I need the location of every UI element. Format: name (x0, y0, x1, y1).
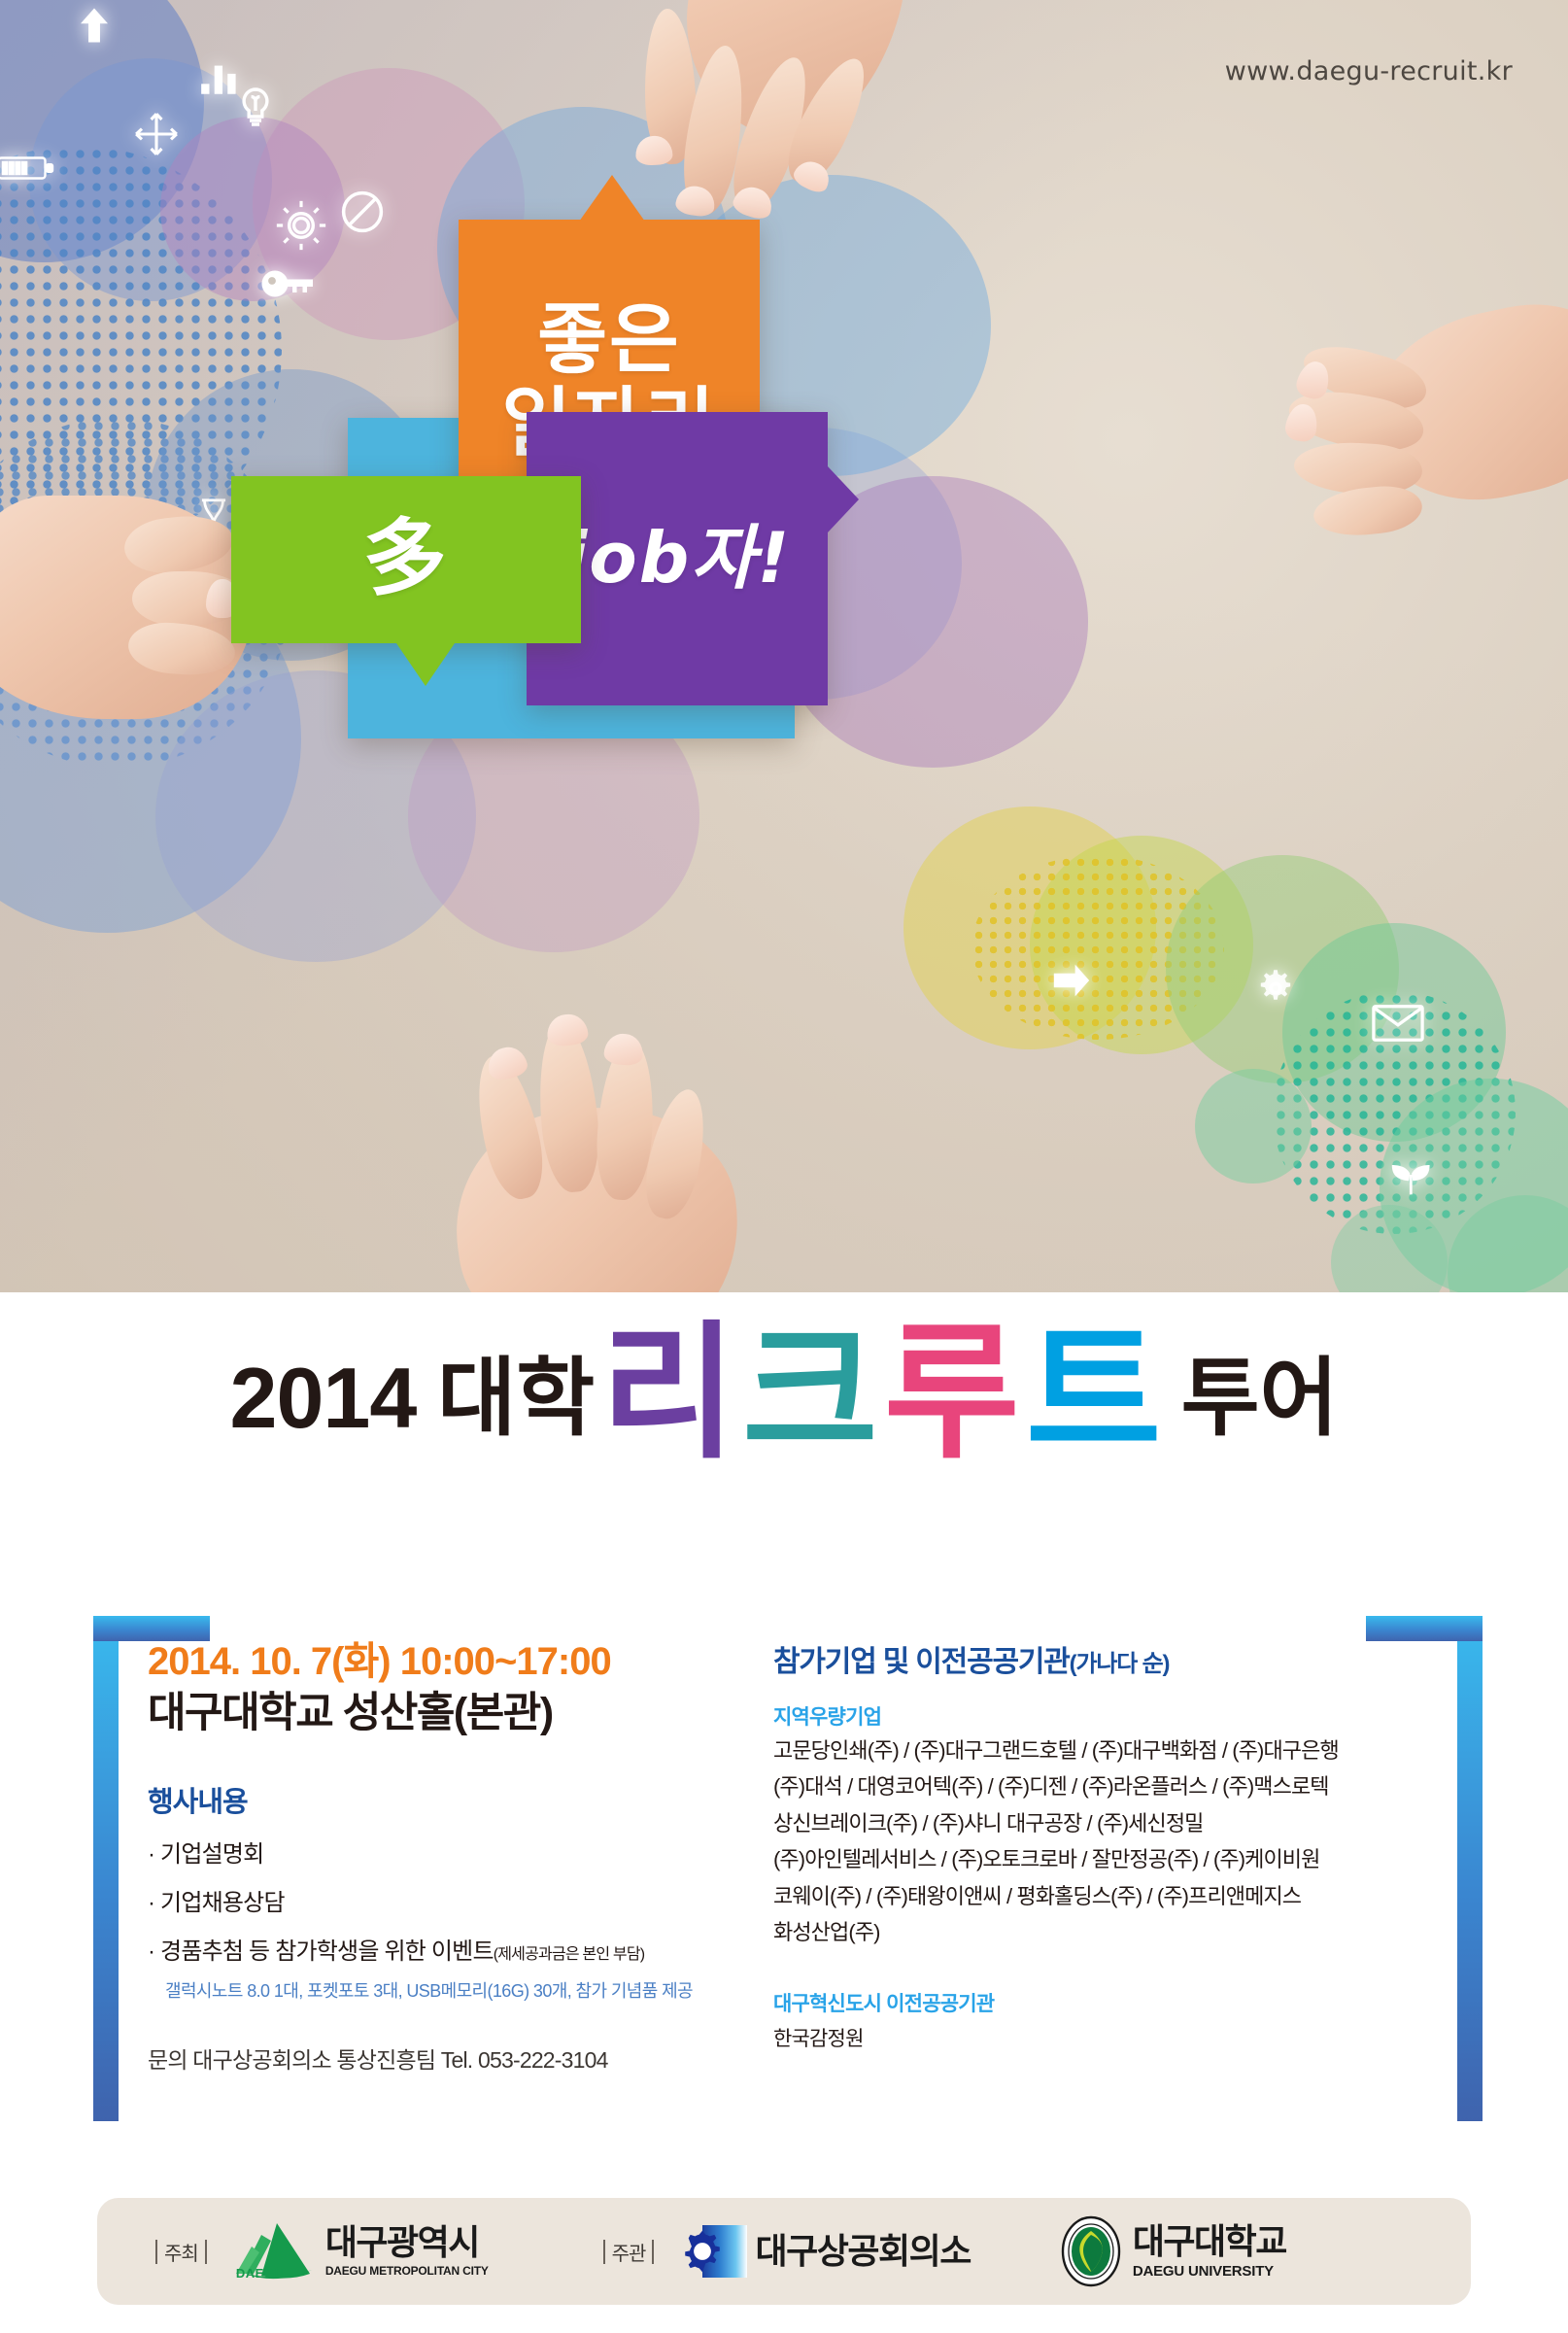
program-bullet: · 기업설명회 (148, 1835, 750, 1869)
hero-image: 우수인력 좋은 일자리 job자! 多 www.daegu-recruit.kr (0, 0, 1568, 1292)
participants-heading-main: 참가기업 및 이전공공기관 (773, 1646, 1070, 1678)
title-syllable-2: 크 (742, 1333, 872, 1455)
hand-bottom-center (418, 1001, 835, 1292)
sponsor-footer: 주최 DAEGU 대구광역시 DAEGU METROPOLITAN CITY (97, 2198, 1471, 2305)
hand-right (1253, 311, 1568, 632)
organizer-group: 주관 대구상공회의소 (603, 2221, 971, 2282)
no-entry-icon (335, 185, 390, 239)
title-syllable-1: 리 (600, 1333, 731, 1455)
host-label: 주최 (155, 2238, 207, 2266)
gear-small-icon (1251, 964, 1300, 1012)
daegu-university-name-kr: 대구대학교 (1133, 2224, 1286, 2259)
dcci-gear-mark (677, 2221, 747, 2282)
bubble-green-tail (396, 643, 455, 686)
bubble-orange-tail (579, 175, 645, 222)
bubble-green: 多 (231, 476, 581, 643)
daegu-city-logo: DAEGU 대구광역시 DAEGU METROPOLITAN CITY (232, 2221, 489, 2282)
title-syllable-3: 루 (884, 1333, 1014, 1455)
bubble-green-text: 多 (363, 517, 449, 602)
organizer-label: 주관 (603, 2238, 655, 2266)
website-url[interactable]: www.daegu-recruit.kr (1225, 56, 1513, 86)
daegu-university-name-en: DAEGU UNIVERSITY (1133, 2263, 1286, 2280)
info-panel: 2014. 10. 7(화) 10:00~17:00 대구대학교 성산홀(본관)… (93, 1616, 1483, 2121)
bubble-purple-tail (828, 466, 859, 532)
daegu-mountain-mark: DAEGU (232, 2221, 316, 2282)
bubble-purple-text: job자! (563, 523, 792, 594)
lightbulb-icon (229, 81, 282, 133)
program-bullet-main: · 경품추첨 등 참가학생을 위한 이벤트 (148, 1938, 494, 1965)
daegu-city-name-en: DAEGU METROPOLITAN CITY (325, 2264, 489, 2278)
company-line: (주)대석 / 대영코어텍(주) / (주)디젠 / (주)라온플러스 / (주… (773, 1770, 1395, 1802)
daegu-city-name-kr: 대구광역시 (325, 2225, 489, 2260)
company-line: 고문당인쇄(주) / (주)대구그랜드호텔 / (주)대구백화점 / (주)대구… (773, 1734, 1395, 1767)
institution-line: 한국감정원 (773, 2023, 1395, 2052)
dcci-name-kr: 대구상공회의소 (755, 2234, 970, 2269)
deco-bubble (1195, 1069, 1312, 1184)
program-bullet-note: (제세공과금은 본인 부담) (494, 1946, 645, 1963)
daegu-university-logo: 대구대학교 DAEGU UNIVERSITY (1060, 2215, 1286, 2287)
arrow-up-icon (72, 3, 117, 48)
daegu-mark-text: DAEGU (236, 2266, 284, 2281)
title-univ: 대학 (437, 1355, 595, 1441)
company-line: 화성산업(주) (773, 1916, 1395, 1948)
company-line: 상신브레이크(주) / (주)샤니 대구공장 / (주)세신정밀 (773, 1807, 1395, 1839)
participants-heading: 참가기업 및 이전공공기관(가나다 순) (773, 1637, 1395, 1680)
title-tour: 투어 (1181, 1355, 1339, 1441)
key-icon (257, 260, 322, 307)
title-syllable-4: 트 (1026, 1333, 1156, 1455)
event-venue: 대구대학교 성산홀(본관) (148, 1688, 750, 1740)
bubble-orange-line1: 좋은 (537, 302, 681, 380)
contact-info: 문의 대구상공회의소 통상진흥팀 Tel. 053-222-3104 (148, 2041, 750, 2075)
event-datetime: 2014. 10. 7(화) 10:00~17:00 (148, 1637, 750, 1686)
program-bullet: · 기업채용상담 (148, 1883, 750, 1917)
participants-heading-note: (가나다 순) (1070, 1651, 1170, 1677)
daegu-university-emblem (1060, 2215, 1122, 2287)
gift-list: 갤럭시노트 8.0 1대, 포켓포토 3대, USB메모리(16G) 30개, … (165, 1977, 750, 2003)
move-arrows-icon (129, 107, 184, 161)
participants-column: 참가기업 및 이전공공기관(가나다 순) 지역우량기업 고문당인쇄(주) / (… (773, 1637, 1395, 2052)
category-public-institutions: 대구혁신도시 이전공공기관 (773, 1988, 1395, 2017)
host-group: 주최 DAEGU 대구광역시 DAEGU METROPOLITAN CITY (155, 2221, 489, 2282)
leaf-icon (1383, 1149, 1438, 1201)
program-heading: 행사내용 (148, 1779, 750, 1820)
company-line: (주)아인텔레서비스 / (주)오토크로바 / 잘만정공(주) / (주)케이비… (773, 1843, 1395, 1875)
title-year: 2014 (230, 1355, 417, 1441)
company-line: 코웨이(주) / (주)태왕이앤씨 / 평화홀딩스(주) / (주)프리앤메지스 (773, 1880, 1395, 1912)
category-local-companies: 지역우량기업 (773, 1701, 1395, 1731)
envelope-icon (1368, 1001, 1428, 1046)
battery-icon (0, 146, 58, 190)
university-group: 대구대학교 DAEGU UNIVERSITY (1060, 2215, 1286, 2287)
arrow-right-icon (1047, 958, 1096, 1003)
poster-title: 2014 대학 리 크 루 트 투어 (0, 1320, 1568, 1504)
program-bullet: · 경품추첨 등 참가학생을 위한 이벤트(제세공과금은 본인 부담) (148, 1932, 750, 1966)
gear-icon (270, 194, 332, 257)
dcci-logo: 대구상공회의소 (677, 2221, 970, 2282)
poster-root: 우수인력 좋은 일자리 job자! 多 www.daegu-recruit.kr… (0, 0, 1568, 2333)
event-details-column: 2014. 10. 7(화) 10:00~17:00 대구대학교 성산홀(본관)… (148, 1637, 750, 2075)
